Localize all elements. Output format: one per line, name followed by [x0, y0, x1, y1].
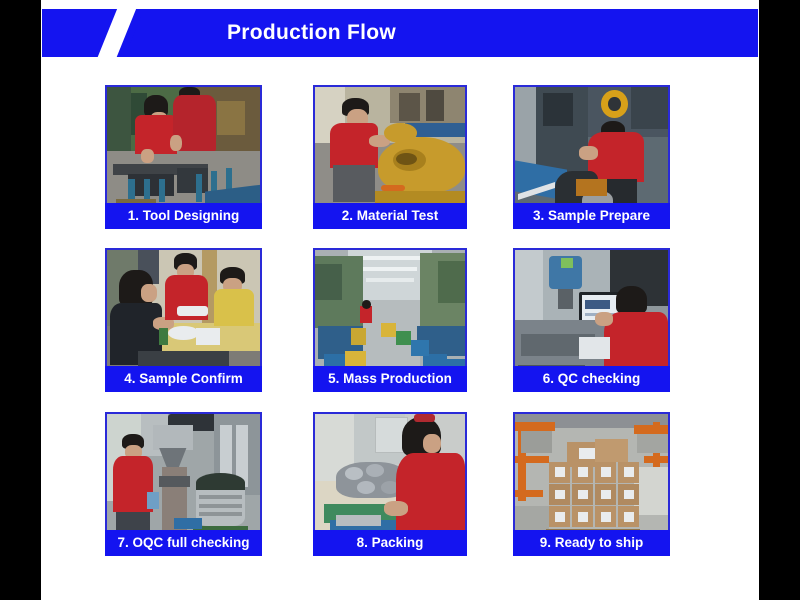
step-label-6: 6. QC checking [513, 366, 670, 392]
step-label-7: 7. OQC full checking [105, 530, 262, 556]
step-label-1: 1. Tool Designing [105, 203, 262, 229]
step-card-4[interactable]: 4. Sample Confirm [105, 248, 262, 392]
step-label-4: 4. Sample Confirm [105, 366, 262, 392]
step-card-2[interactable]: 2. Material Test [313, 85, 467, 229]
step-label-3: 3. Sample Prepare [513, 203, 670, 229]
step-label-8: 8. Packing [313, 530, 467, 556]
step-card-8[interactable]: 8. Packing [313, 412, 467, 556]
step-card-9[interactable]: 9. Ready to ship [513, 412, 670, 556]
step-card-6[interactable]: 6. QC checking [513, 248, 670, 392]
step-label-5: 5. Mass Production [313, 366, 467, 392]
step-card-1[interactable]: 1. Tool Designing [105, 85, 262, 229]
production-flow-grid: 1. Tool Designing [0, 0, 800, 600]
step-label-9: 9. Ready to ship [513, 530, 670, 556]
slide-canvas: Production Flow [0, 0, 800, 600]
step-label-2: 2. Material Test [313, 203, 467, 229]
step-card-7[interactable]: 7. OQC full checking [105, 412, 262, 556]
step-card-3[interactable]: 3. Sample Prepare [513, 85, 670, 229]
step-card-5[interactable]: 5. Mass Production [313, 248, 467, 392]
